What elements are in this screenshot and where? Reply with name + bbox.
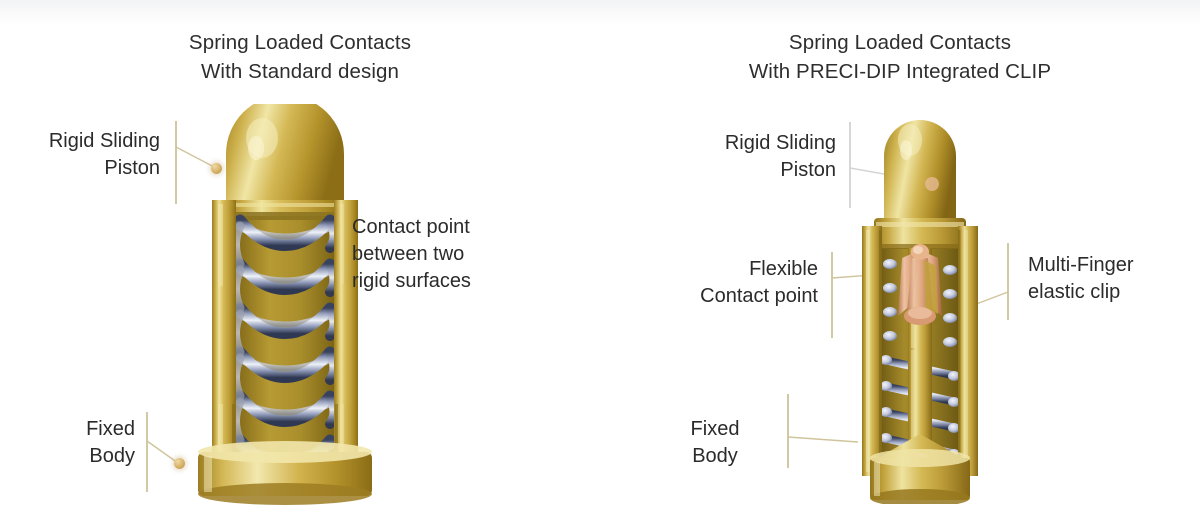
diagram-canvas: Spring Loaded Contacts With Standard des… [0, 0, 1200, 528]
connector-standard-design [190, 104, 380, 510]
label-flexible-contact-point: Flexible Contact point [646, 256, 818, 310]
panel-title-standard: Spring Loaded Contacts With Standard des… [0, 28, 600, 86]
connector-preci-dip-clip [840, 108, 1000, 504]
label-fixed-body: Fixed Body [660, 416, 770, 470]
panel-standard-design: Spring Loaded Contacts With Standard des… [0, 0, 600, 528]
label-contact-point-between-rigid-surfaces: Contact point between two rigid surfaces [352, 214, 572, 295]
label-rigid-sliding-piston: Rigid Sliding Piston [10, 128, 160, 182]
panel-title-preci-dip: Spring Loaded Contacts With PRECI-DIP In… [600, 28, 1200, 86]
label-multi-finger-elastic-clip: Multi-Finger elastic clip [1028, 252, 1198, 306]
label-rigid-sliding-piston: Rigid Sliding Piston [686, 130, 836, 184]
label-fixed-body: Fixed Body [10, 416, 135, 470]
panel-preci-dip-clip: Spring Loaded Contacts With PRECI-DIP In… [600, 0, 1200, 528]
leader-dot-fixed-body [174, 458, 185, 469]
leader-fixed-body [147, 441, 178, 463]
